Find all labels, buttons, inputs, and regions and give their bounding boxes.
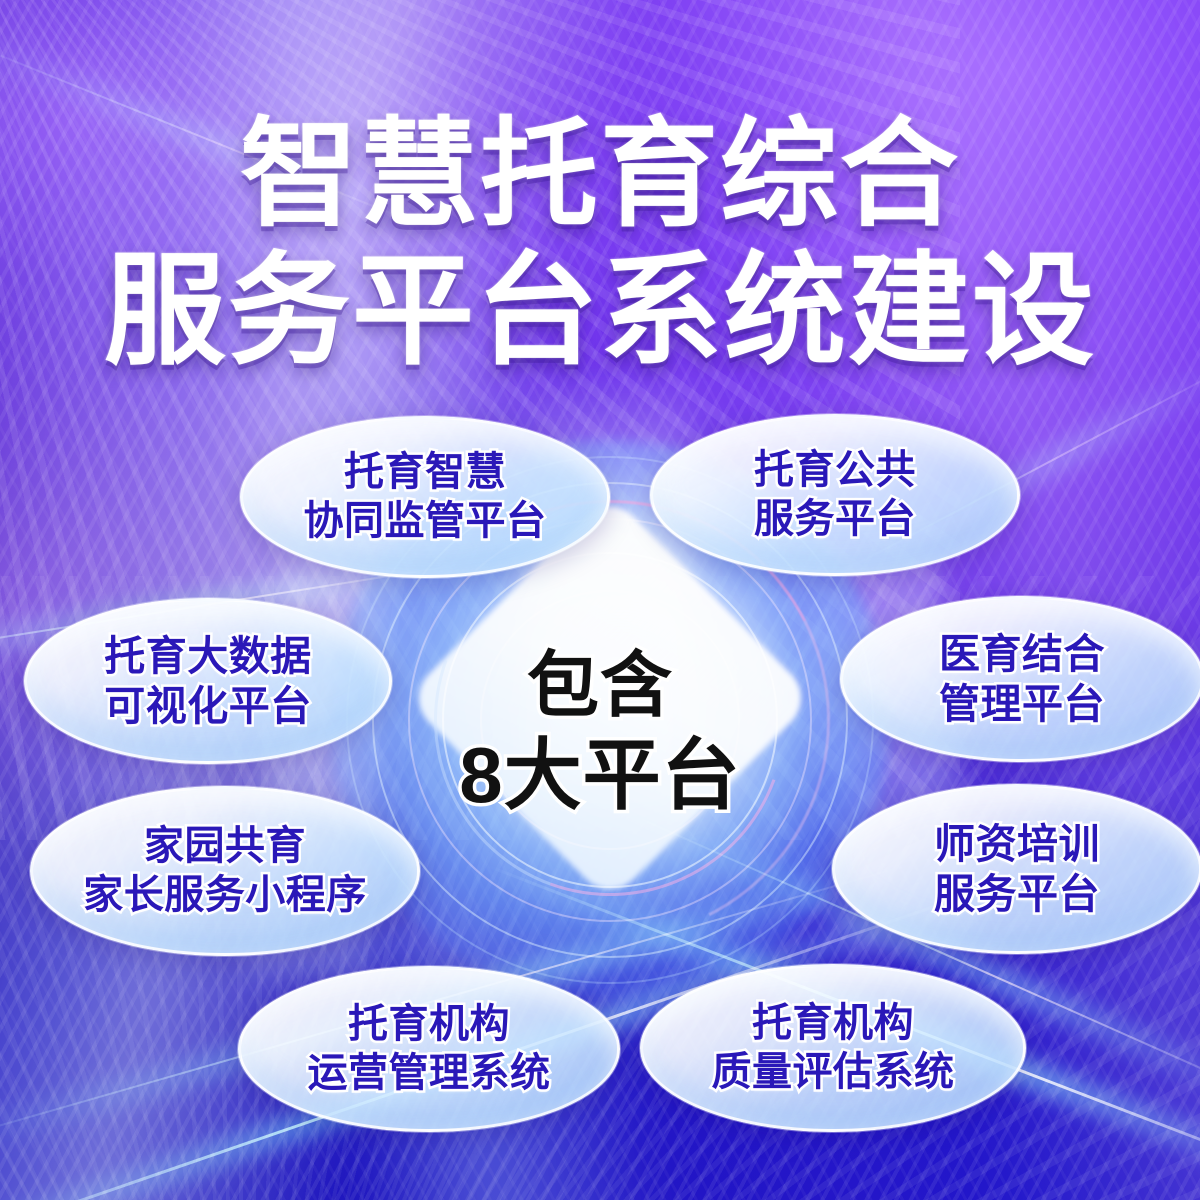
- poster-canvas: 智慧托育综合 服务平台系统建设 托育智慧 协同监管平台 托育公共 服务平台 托育…: [0, 0, 1200, 1200]
- platform-label-line-2: 管理平台: [939, 679, 1105, 729]
- platform-bubble-bottom-mid-right[interactable]: 托育机构 质量评估系统: [640, 964, 1026, 1132]
- platform-label-line-2: 服务平台: [754, 495, 916, 544]
- platform-label-line-2: 家长服务小程序: [83, 871, 367, 920]
- platform-label-line-1: 家园共育: [83, 822, 367, 871]
- title-line-1: 智慧托育综合: [0, 116, 1200, 234]
- platform-label-bottom-mid-left: 托育机构 运营管理系统: [308, 1000, 551, 1098]
- platform-label-line-2: 质量评估系统: [712, 1048, 955, 1097]
- platform-label-line-2: 可视化平台: [104, 681, 312, 731]
- platform-bubble-middle-right[interactable]: 医育结合 管理平台: [840, 596, 1200, 762]
- platform-bubble-bottom-right[interactable]: 师资培训 服务平台: [832, 784, 1200, 954]
- platform-bubble-bottom-mid-left[interactable]: 托育机构 运营管理系统: [238, 966, 620, 1132]
- title-line-2: 服务平台系统建设: [0, 250, 1200, 372]
- platform-bubble-top-left[interactable]: 托育智慧 协同监管平台: [240, 416, 610, 578]
- poster-title: 智慧托育综合 服务平台系统建设: [0, 116, 1200, 372]
- platform-label-top-left: 托育智慧 协同监管平台: [304, 448, 547, 546]
- platform-label-line-1: 托育机构: [308, 1000, 551, 1049]
- platform-label-middle-left: 托育大数据 可视化平台: [104, 631, 312, 731]
- platform-label-line-1: 托育智慧: [304, 448, 547, 497]
- platform-label-line-2: 服务平台: [934, 869, 1100, 919]
- platform-label-line-1: 托育大数据: [104, 631, 312, 681]
- platform-label-line-2: 运营管理系统: [308, 1049, 551, 1098]
- platform-bubble-middle-left[interactable]: 托育大数据 可视化平台: [24, 598, 392, 764]
- platform-label-middle-right: 医育结合 管理平台: [939, 629, 1105, 729]
- platform-label-line-1: 托育公共: [754, 446, 916, 495]
- platform-label-line-1: 托育机构: [712, 999, 955, 1048]
- platform-label-bottom-mid-right: 托育机构 质量评估系统: [712, 999, 955, 1097]
- platform-label-bottom-left: 家园共育 家长服务小程序: [83, 822, 367, 920]
- platform-bubble-bottom-left[interactable]: 家园共育 家长服务小程序: [30, 786, 420, 956]
- platform-label-line-2: 协同监管平台: [304, 497, 547, 546]
- platform-label-line-1: 医育结合: [939, 629, 1105, 679]
- platform-label-line-1: 师资培训: [934, 819, 1100, 869]
- platform-label-bottom-right: 师资培训 服务平台: [934, 819, 1100, 919]
- platform-bubble-top-right[interactable]: 托育公共 服务平台: [650, 414, 1020, 576]
- platform-label-top-right: 托育公共 服务平台: [754, 446, 916, 544]
